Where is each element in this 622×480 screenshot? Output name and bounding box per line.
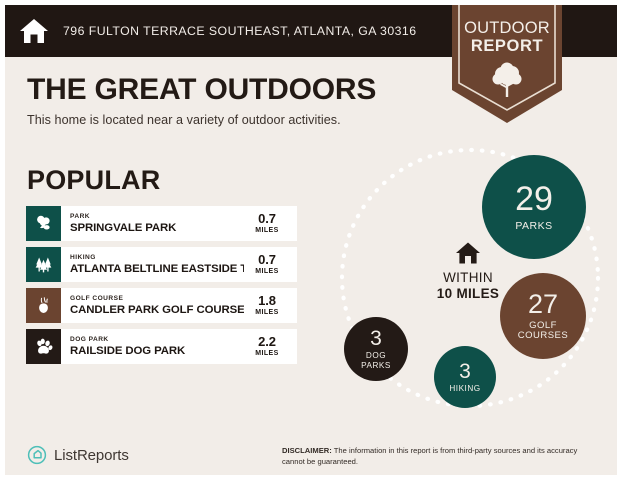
listreports-home-pin-icon <box>27 445 47 465</box>
poi-distance-value: 0.7 <box>258 212 276 226</box>
property-address: 796 FULTON TERRACE SOUTHEAST, ATLANTA, G… <box>63 24 417 38</box>
poi-icon-box <box>26 329 61 364</box>
poi-name: ATLANTA BELTLINE EASTSIDE TRAIL <box>70 262 244 276</box>
listreports-logo[interactable]: ListReports <box>27 445 129 465</box>
park-tree-icon <box>33 213 54 234</box>
poi-distance-value: 2.2 <box>258 335 276 349</box>
listreports-logo-text: ListReports <box>54 447 129 464</box>
page-subtitle: This home is located near a variety of o… <box>27 113 447 127</box>
bubble-value: 3 <box>459 361 471 382</box>
poi-text: DOG PARK RAILSIDE DOG PARK <box>61 329 244 364</box>
disclaimer: DISCLAIMER: The information in this repo… <box>282 446 602 467</box>
badge-title: OUTDOOR REPORT <box>452 19 562 55</box>
poi-icon-box <box>26 288 61 323</box>
poi-category: DOG PARK <box>70 336 244 344</box>
bubble-value: 29 <box>515 182 553 216</box>
poi-text: PARK SPRINGVALE PARK <box>61 206 244 241</box>
poi-distance-value: 1.8 <box>258 294 276 308</box>
badge-line-2: REPORT <box>452 37 562 55</box>
outdoor-report-badge: OUTDOOR REPORT <box>452 5 562 123</box>
within-10-miles-bubble-chart: 29 PARKS 27 GOLF COURSES 3 DOG PARKS 3 H… <box>323 143 613 415</box>
poi-distance-unit: MILES <box>255 226 278 235</box>
list-item[interactable]: HIKING ATLANTA BELTLINE EASTSIDE TRAIL 0… <box>26 247 297 282</box>
list-item[interactable]: PARK SPRINGVALE PARK 0.7 MILES <box>26 206 297 241</box>
poi-distance-unit: MILES <box>255 349 278 358</box>
bubble-dog-parks: 3 DOG PARKS <box>344 317 408 381</box>
popular-poi-list: PARK SPRINGVALE PARK 0.7 MILES <box>26 206 297 370</box>
poi-icon-box <box>26 206 61 241</box>
bubble-label: HIKING <box>449 384 480 393</box>
tree-icon <box>490 61 524 99</box>
poi-name: RAILSIDE DOG PARK <box>70 344 244 358</box>
badge-line-1: OUTDOOR <box>452 19 562 37</box>
poi-icon-box <box>26 247 61 282</box>
center-line-1: WITHIN <box>409 270 527 286</box>
home-icon <box>19 17 49 45</box>
paw-print-icon <box>33 336 54 357</box>
poi-distance: 2.2 MILES <box>244 329 297 364</box>
poi-distance-unit: MILES <box>255 267 278 276</box>
disclaimer-label: DISCLAIMER: <box>282 446 332 455</box>
poi-distance-value: 0.7 <box>258 253 276 267</box>
bubble-hiking: 3 HIKING <box>434 346 496 408</box>
pine-trees-icon <box>33 254 54 275</box>
poi-name: CANDLER PARK GOLF COURSE <box>70 303 244 317</box>
poi-category: HIKING <box>70 254 244 262</box>
bubble-value: 27 <box>528 291 558 318</box>
title-block: THE GREAT OUTDOORS This home is located … <box>27 73 447 127</box>
bubble-label: GOLF COURSES <box>512 321 574 342</box>
poi-distance: 0.7 MILES <box>244 206 297 241</box>
poi-category: PARK <box>70 213 244 221</box>
chart-center-label: WITHIN 10 MILES <box>409 241 527 302</box>
home-icon <box>455 241 481 265</box>
list-item[interactable]: GOLF COURSE CANDLER PARK GOLF COURSE 1.8… <box>26 288 297 323</box>
poi-text: GOLF COURSE CANDLER PARK GOLF COURSE <box>61 288 244 323</box>
list-item[interactable]: DOG PARK RAILSIDE DOG PARK 2.2 MILES <box>26 329 297 364</box>
popular-section-heading: POPULAR <box>27 165 160 196</box>
poi-category: GOLF COURSE <box>70 295 244 303</box>
poi-distance-unit: MILES <box>255 308 278 317</box>
poi-distance: 0.7 MILES <box>244 247 297 282</box>
poi-text: HIKING ATLANTA BELTLINE EASTSIDE TRAIL <box>61 247 244 282</box>
bubble-label: PARKS <box>515 221 552 233</box>
bubble-label: DOG PARKS <box>352 351 400 369</box>
golf-flag-icon <box>33 295 54 316</box>
poi-distance: 1.8 MILES <box>244 288 297 323</box>
center-line-2: 10 MILES <box>409 286 527 302</box>
poi-name: SPRINGVALE PARK <box>70 221 244 235</box>
outdoor-report-page: 796 FULTON TERRACE SOUTHEAST, ATLANTA, G… <box>0 0 622 480</box>
bubble-value: 3 <box>370 328 382 349</box>
page-title: THE GREAT OUTDOORS <box>27 73 447 107</box>
